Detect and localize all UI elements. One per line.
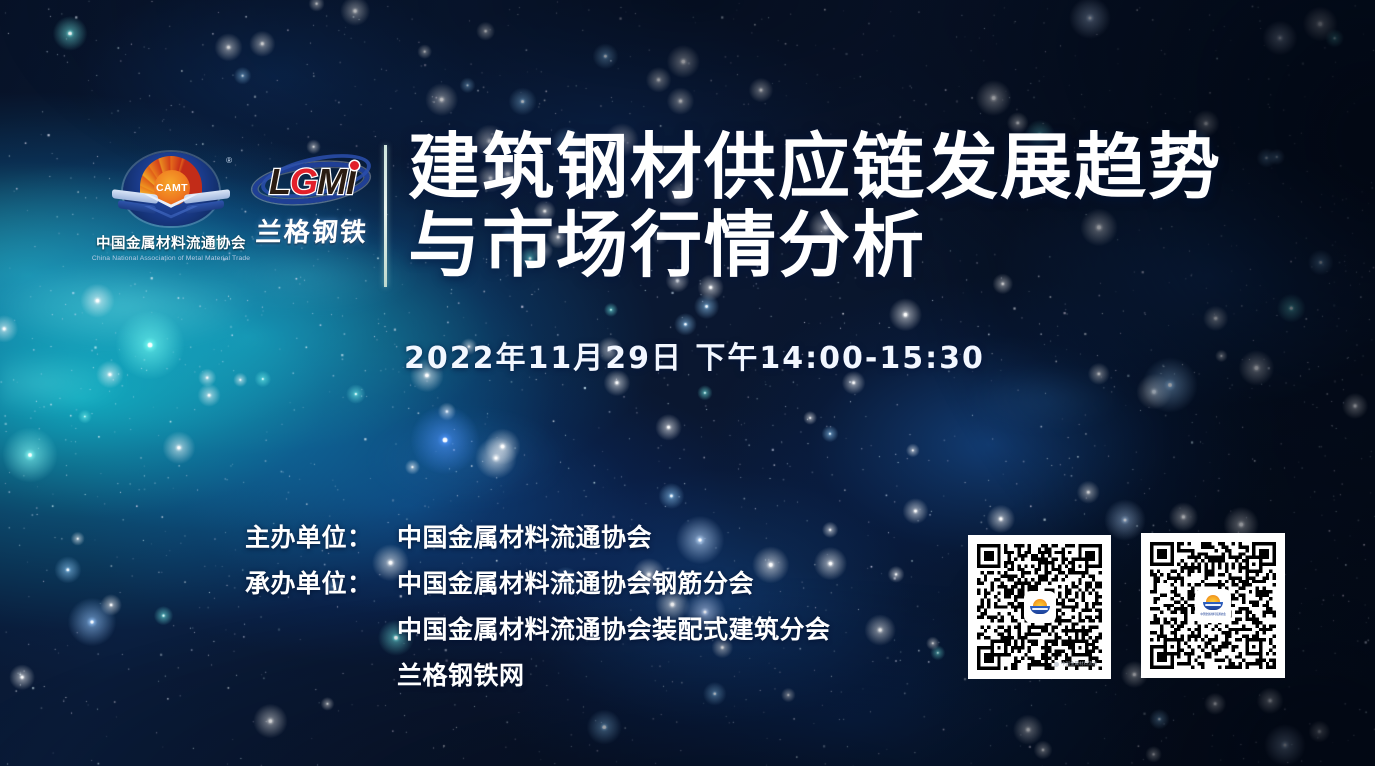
event-datetime: 2022年11月29日 下午14:00-15:30	[404, 333, 985, 377]
organizer-list: 主办单位： 中国金属材料流通协会 承办单位： 中国金属材料流通协会钢筋分会 中国…	[245, 518, 945, 702]
camt-mark-text: CAMT	[156, 182, 188, 194]
title-line-2: 与市场行情分析	[408, 206, 1238, 284]
qr-logo-caption: 中国金属材料流通协会	[1200, 612, 1225, 616]
lgmi-logo: LGMI 兰格钢铁	[248, 155, 376, 265]
qr-canvas-wrap: 中国金属材料流通	[977, 544, 1102, 670]
title-divider	[384, 145, 387, 287]
page-title: 建筑钢材供应链发展趋势 与市场行情分析	[408, 128, 1238, 284]
title-line-1: 建筑钢材供应链发展趋势	[408, 128, 1238, 206]
camt-logo: CAMT ® 中国金属材料流通协会 China National Associa…	[86, 150, 256, 268]
camt-name-cn: 中国金属材料流通协会	[86, 232, 256, 253]
organizer-value: 中国金属材料流通协会	[397, 518, 652, 554]
qr-code-right[interactable]: 中国金属材料流通协会	[1141, 533, 1285, 678]
organizer-value: 中国金属材料流通协会钢筋分会	[397, 564, 754, 600]
lgmi-red-dot-icon	[350, 161, 359, 170]
organizer-row: 兰格钢铁网	[245, 656, 945, 702]
registered-mark-icon: ®	[226, 156, 232, 165]
lgmi-letter-mi: MI	[317, 161, 355, 202]
lgmi-letter-g: G	[290, 161, 317, 202]
qr-watermark-dot-icon	[1054, 662, 1059, 667]
organizer-row: 承办单位： 中国金属材料流通协会钢筋分会	[245, 564, 945, 610]
organizer-value: 中国金属材料流通协会装配式建筑分会	[397, 610, 831, 646]
qr-center-logo: 中国金属材料流通协会	[1197, 591, 1229, 621]
poster-root: CAMT ® 中国金属材料流通协会 China National Associa…	[0, 0, 1375, 766]
organizer-row: 中国金属材料流通协会装配式建筑分会	[245, 610, 945, 656]
mini-wave-icon	[1203, 602, 1223, 610]
organizer-label: 主办单位：	[245, 518, 397, 554]
lgmi-emblem-icon: LGMI	[248, 155, 376, 211]
header-region: CAMT ® 中国金属材料流通协会 China National Associa…	[0, 0, 1375, 310]
organizer-value: 兰格钢铁网	[397, 656, 525, 692]
camt-name-en: China National Association of Metal Mate…	[84, 255, 257, 262]
qr-center-logo	[1026, 593, 1054, 621]
camt-emblem-icon-small	[1203, 595, 1223, 611]
qr-code-left[interactable]: 中国金属材料流通	[968, 535, 1111, 679]
lgmi-name-cn: 兰格钢铁	[246, 212, 377, 249]
qr-watermark-text: 中国金属材料流通	[1061, 661, 1097, 667]
qr-canvas-wrap: 中国金属材料流通协会	[1150, 542, 1276, 669]
qr-watermark: 中国金属材料流通	[1054, 661, 1097, 667]
lgmi-letter-l: L	[269, 161, 290, 202]
sun-wave-emblem-icon	[1030, 599, 1050, 615]
mini-wave-icon	[1030, 606, 1050, 614]
camt-emblem-icon: CAMT ®	[114, 150, 228, 230]
organizer-label: 承办单位：	[245, 564, 397, 600]
organizer-row: 主办单位： 中国金属材料流通协会	[245, 518, 945, 564]
